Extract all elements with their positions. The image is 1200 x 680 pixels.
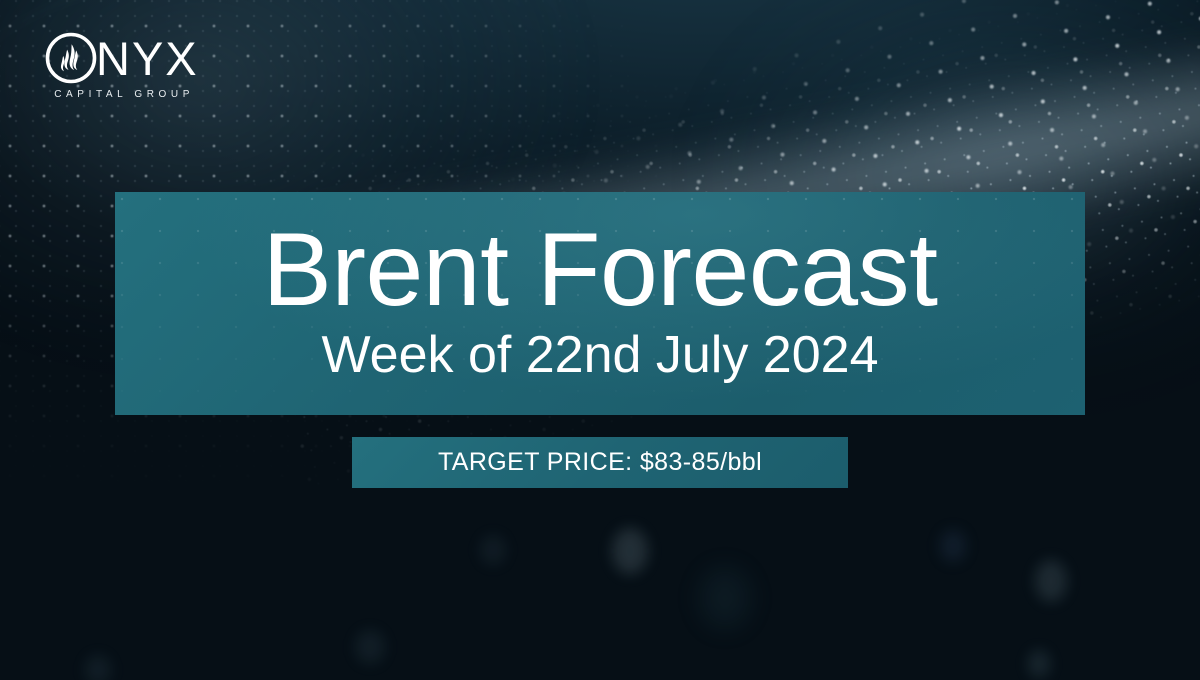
logo-text: NYX <box>96 35 199 82</box>
bokeh-dot-3 <box>1028 650 1050 678</box>
target-price-badge: TARGET PRICE: $83-85/bbl <box>352 437 848 488</box>
bokeh-dot-7 <box>85 655 111 680</box>
page-title: Brent Forecast <box>262 217 937 323</box>
bokeh-dot-8 <box>940 530 966 562</box>
logo-tagline: CAPITAL GROUP <box>50 89 194 100</box>
flame-icon <box>45 32 97 84</box>
target-price-label: TARGET PRICE: $83-85/bbl <box>438 448 762 477</box>
poster-canvas: NYX CAPITAL GROUP Brent Forecast Week of… <box>0 0 1200 680</box>
logo-wordmark: NYX <box>45 32 199 84</box>
bokeh-dot-1 <box>612 528 648 574</box>
bokeh-dot-2 <box>1035 560 1067 602</box>
brand-logo: NYX CAPITAL GROUP <box>45 32 199 100</box>
bokeh-dot-5 <box>355 630 385 664</box>
bokeh-dot-6 <box>480 535 506 565</box>
title-banner: Brent Forecast Week of 22nd July 2024 <box>115 192 1085 415</box>
page-subtitle: Week of 22nd July 2024 <box>322 327 879 384</box>
bokeh-dot-4 <box>700 568 750 628</box>
